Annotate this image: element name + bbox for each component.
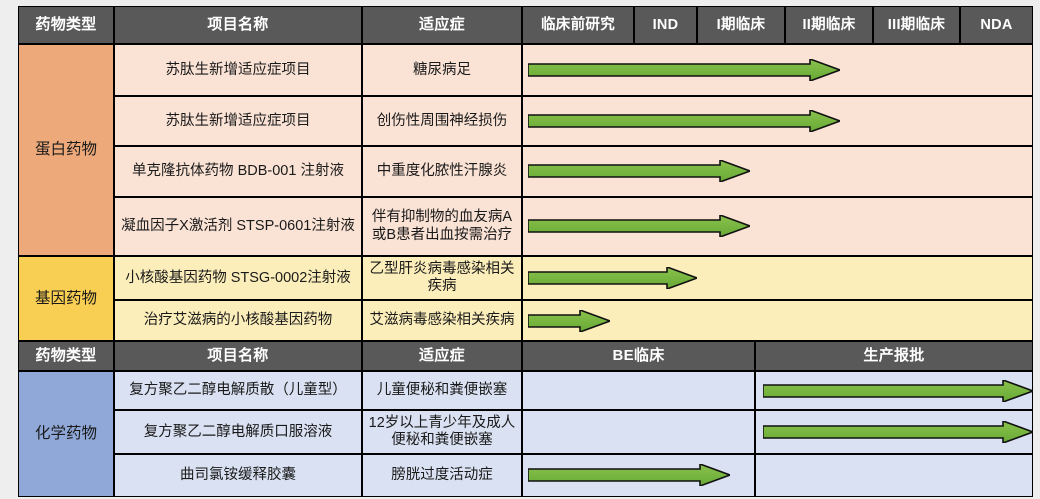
indication-cell: 乙型肝炎病毒感染相关疾病: [362, 256, 522, 300]
header-phase-2: II期临床: [785, 6, 873, 44]
header-indication-bottom: 适应症: [362, 341, 522, 371]
progress-track-production: [755, 371, 1033, 410]
project-name-cell: 苏肽生新增适应症项目: [114, 44, 362, 96]
header-phase-be: BE临床: [522, 341, 755, 371]
indication-cell: 创伤性周围神经损伤: [362, 96, 522, 146]
project-name-cell: 曲司氯铵缓释胶囊: [114, 454, 362, 497]
header-phase-3: III期临床: [873, 6, 960, 44]
header-phase-nda: NDA: [960, 6, 1033, 44]
header-drug-type-top: 药物类型: [18, 6, 114, 44]
indication-cell: 伴有抑制物的血友病A或B患者出血按需治疗: [362, 197, 522, 256]
indication-cell: 儿童便秘和粪便嵌塞: [362, 371, 522, 410]
category-cell-chemical: 化学药物: [18, 371, 114, 497]
progress-track: [522, 44, 1033, 96]
category-cell-protein: 蛋白药物: [18, 44, 114, 256]
progress-track-be: [522, 454, 755, 497]
progress-track: [522, 256, 1033, 300]
progress-track-be: [522, 371, 755, 410]
indication-cell: 12岁以上青少年及成人便秘和粪便嵌塞: [362, 410, 522, 454]
project-name-cell: 苏肽生新增适应症项目: [114, 96, 362, 146]
project-name-cell: 凝血因子X激活剂 STSP-0601注射液: [114, 197, 362, 256]
header-project-name-top: 项目名称: [114, 6, 362, 44]
project-name-cell: 小核酸基因药物 STSG-0002注射液: [114, 256, 362, 300]
progress-track: [522, 146, 1033, 197]
progress-track: [522, 300, 1033, 341]
header-drug-type-bottom: 药物类型: [18, 341, 114, 371]
project-name-cell: 治疗艾滋病的小核酸基因药物: [114, 300, 362, 341]
project-name-cell: 复方聚乙二醇电解质口服溶液: [114, 410, 362, 454]
project-name-cell: 单克隆抗体药物 BDB-001 注射液: [114, 146, 362, 197]
pipeline-table: 药物类型 项目名称 适应症 临床前研究 IND I期临床 II期临床 III期临…: [0, 0, 1040, 499]
header-phase-1: I期临床: [697, 6, 785, 44]
header-phase-ind: IND: [634, 6, 697, 44]
progress-track-production: [755, 410, 1033, 454]
header-phase-preclinical: 临床前研究: [522, 6, 634, 44]
project-name-cell: 复方聚乙二醇电解质散（儿童型）: [114, 371, 362, 410]
indication-cell: 糖尿病足: [362, 44, 522, 96]
header-indication-top: 适应症: [362, 6, 522, 44]
header-project-name-bottom: 项目名称: [114, 341, 362, 371]
indication-cell: 中重度化脓性汗腺炎: [362, 146, 522, 197]
progress-track-be: [522, 410, 755, 454]
indication-cell: 膀胱过度活动症: [362, 454, 522, 497]
progress-track-production: [755, 454, 1033, 497]
progress-track: [522, 96, 1033, 146]
indication-cell: 艾滋病毒感染相关疾病: [362, 300, 522, 341]
header-phase-production: 生产报批: [755, 341, 1033, 371]
progress-track: [522, 197, 1033, 256]
category-cell-gene: 基因药物: [18, 256, 114, 341]
